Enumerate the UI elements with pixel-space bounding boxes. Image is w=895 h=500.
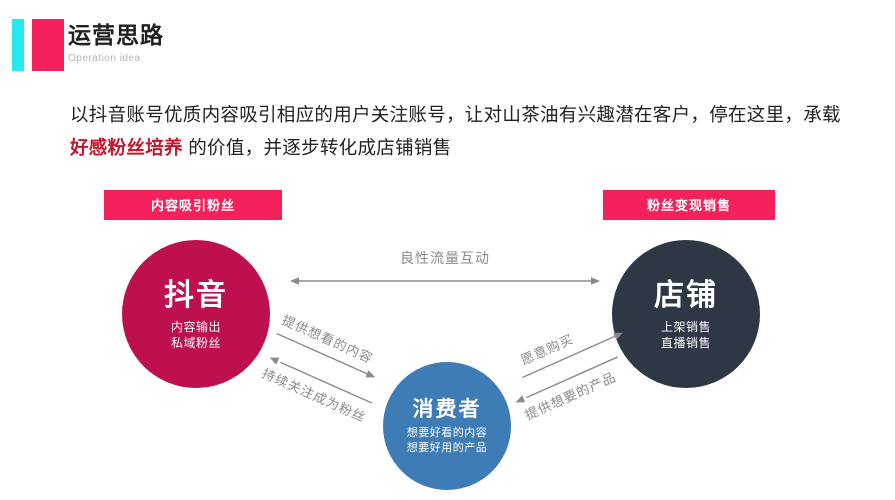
- header-accent-bars: [12, 19, 64, 71]
- node-shop-subtitle: 上架销售 直播销售: [661, 319, 711, 351]
- node-consumer-sub-line1: 想要好看的内容: [407, 426, 488, 441]
- node-douyin-subtitle: 内容输出 私域粉丝: [171, 319, 221, 351]
- page-subtitle: Operation idea: [68, 53, 164, 64]
- slide-canvas: 运营思路 Operation idea 以抖音账号优质内容吸引相应的用户关注账号…: [0, 0, 895, 500]
- node-shop[interactable]: 店铺 上架销售 直播销售: [612, 240, 760, 388]
- node-douyin-sub-line1: 内容输出: [171, 319, 221, 335]
- badge-fans-convert-sales: 粉丝变现销售: [603, 190, 775, 220]
- intro-highlight: 好感粉丝培养: [70, 137, 183, 158]
- node-shop-title: 店铺: [654, 278, 718, 314]
- connector-top-label: 良性流量互动: [290, 248, 600, 268]
- node-shop-sub-line1: 上架销售: [661, 319, 711, 335]
- node-consumer-title: 消费者: [413, 397, 482, 423]
- intro-text-part1: 以抖音账号优质内容吸引相应的用户关注账号，让对山茶油有兴趣潜在客户，停在这里，承…: [70, 104, 841, 125]
- node-consumer-sub-line2: 想要好用的产品: [407, 441, 488, 456]
- accent-bar-cyan: [12, 19, 24, 71]
- intro-paragraph: 以抖音账号优质内容吸引相应的用户关注账号，让对山茶油有兴趣潜在客户，停在这里，承…: [70, 98, 860, 164]
- node-consumer-subtitle: 想要好看的内容 想要好用的产品: [407, 426, 488, 456]
- node-shop-sub-line2: 直播销售: [661, 335, 711, 351]
- double-arrow-icon: [290, 274, 600, 288]
- accent-bar-pink: [32, 19, 64, 71]
- node-consumer[interactable]: 消费者 想要好看的内容 想要好用的产品: [383, 362, 511, 490]
- node-douyin[interactable]: 抖音 内容输出 私域粉丝: [122, 240, 270, 388]
- badge-content-attracts-fans: 内容吸引粉丝: [104, 190, 282, 220]
- node-douyin-sub-line2: 私域粉丝: [171, 335, 221, 351]
- title-block: 运营思路 Operation idea: [68, 20, 164, 64]
- connector-top: 良性流量互动: [290, 248, 600, 300]
- intro-text-part2: 的价值，并逐步转化成店铺销售: [183, 137, 452, 158]
- page-title: 运营思路: [68, 20, 164, 50]
- node-douyin-title: 抖音: [164, 278, 228, 314]
